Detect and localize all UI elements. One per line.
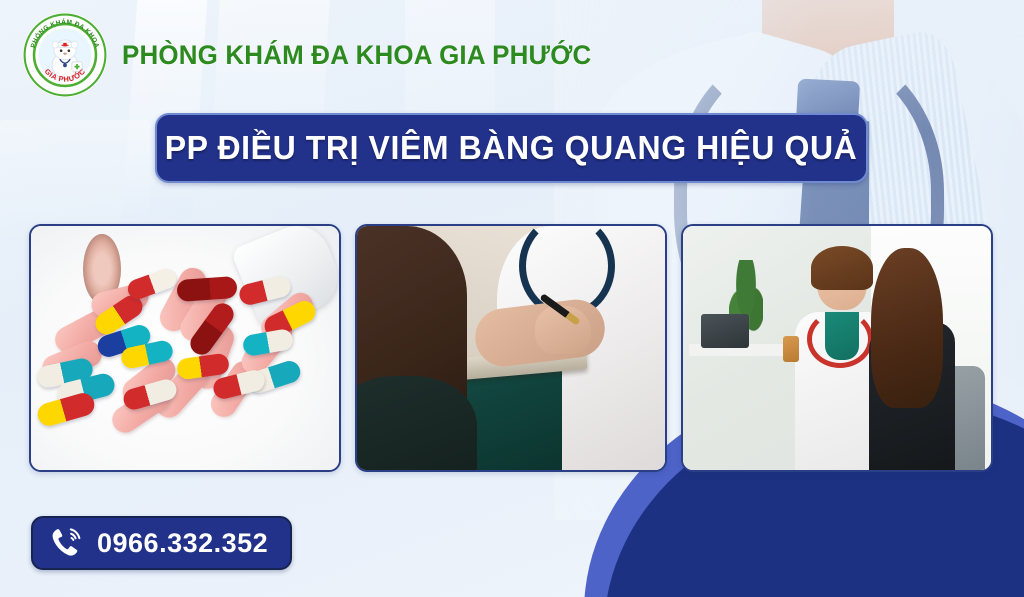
laptop-icon — [701, 314, 749, 348]
photo-doctor-clipboard — [355, 224, 667, 472]
doctor-hair — [811, 246, 873, 290]
photo-doctor-consult — [681, 224, 993, 472]
clinic-name: PHÒNG KHÁM ĐA KHOA GIA PHƯỚC — [122, 40, 591, 71]
patient-shoulder — [355, 376, 477, 472]
headline-banner: PP ĐIỀU TRỊ VIÊM BÀNG QUANG HIỆU QUẢ — [155, 113, 868, 183]
pill-capsule — [176, 276, 237, 302]
phone-contact-badge[interactable]: 0966.332.352 — [31, 516, 292, 570]
photo-row — [29, 224, 995, 472]
patient-hair — [871, 248, 943, 408]
medicine-bottle — [783, 336, 799, 362]
nurse-mascot-icon: PHÒNG KHÁM ĐA KHOA GIA PHƯỚC — [22, 12, 108, 98]
background-light-panel — [0, 120, 150, 240]
red-stethoscope-icon — [807, 310, 873, 368]
clinic-promo-banner: PHÒNG KHÁM ĐA KHOA GIA PHƯỚC PHÒNG KHÁM … — [0, 0, 1024, 597]
phone-call-icon — [49, 526, 83, 560]
photo-pills — [29, 224, 341, 472]
clinic-logo: PHÒNG KHÁM ĐA KHOA GIA PHƯỚC — [22, 12, 108, 98]
headline-text: PP ĐIỀU TRỊ VIÊM BÀNG QUANG HIỆU QUẢ — [165, 129, 858, 167]
brand-header: PHÒNG KHÁM ĐA KHOA GIA PHƯỚC PHÒNG KHÁM … — [22, 12, 611, 98]
phone-number-text: 0966.332.352 — [97, 528, 268, 559]
